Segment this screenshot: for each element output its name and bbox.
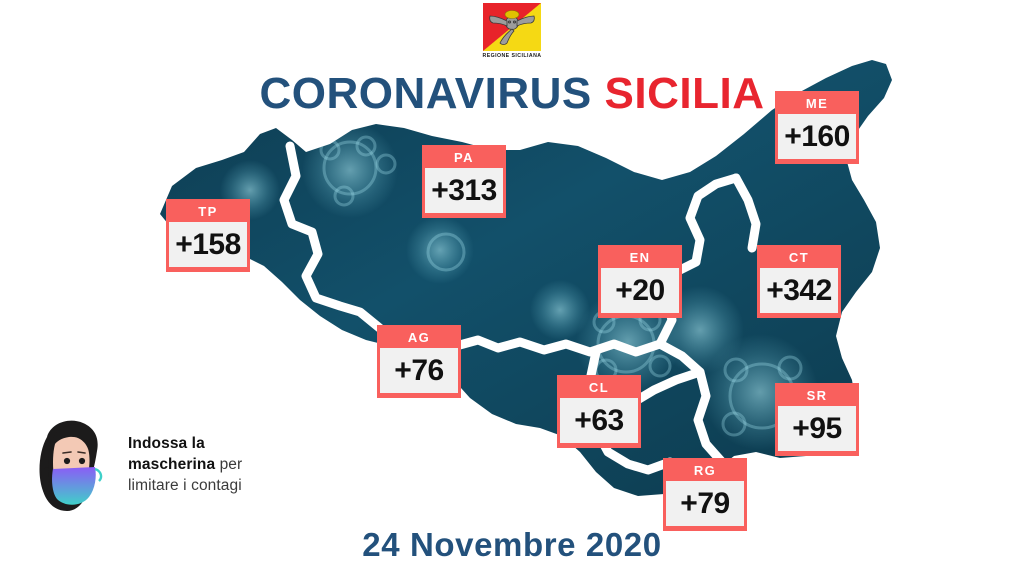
stat-value-sr: +95 xyxy=(778,406,856,451)
regione-siciliana-logo: REGIONE SICILIANA xyxy=(479,3,545,65)
stat-box-ct[interactable]: CT+342 xyxy=(757,245,841,318)
stat-value-rg: +79 xyxy=(666,481,744,526)
mask-notice-line2-bold: mascherina xyxy=(128,456,215,473)
page-title: CORONAVIRUS SICILIA xyxy=(0,72,1024,116)
stat-code-tp: TP xyxy=(169,202,247,222)
trinacria-shield-icon xyxy=(483,3,541,51)
stat-box-cl[interactable]: CL+63 xyxy=(557,375,641,448)
stat-value-en: +20 xyxy=(601,268,679,313)
stat-value-pa: +313 xyxy=(425,168,503,213)
stat-box-ag[interactable]: AG+76 xyxy=(377,325,461,398)
mask-notice-line1: Indossa la xyxy=(128,435,205,452)
stat-code-en: EN xyxy=(601,248,679,268)
infographic-page: REGIONE SICILIANA CORONAVIRUS SICILIA TP… xyxy=(0,0,1024,576)
stat-box-en[interactable]: EN+20 xyxy=(598,245,682,318)
stat-value-me: +160 xyxy=(778,114,856,159)
stat-value-tp: +158 xyxy=(169,222,247,267)
woman-wearing-mask-icon xyxy=(25,415,117,515)
title-sicilia: SICILIA xyxy=(605,69,765,118)
stat-code-ag: AG xyxy=(380,328,458,348)
stat-box-pa[interactable]: PA+313 xyxy=(422,145,506,218)
stat-box-me[interactable]: ME+160 xyxy=(775,91,859,164)
stat-value-ct: +342 xyxy=(760,268,838,313)
date-label: 24 Novembre 2020 xyxy=(0,526,1024,564)
stat-box-rg[interactable]: RG+79 xyxy=(663,458,747,531)
stat-code-me: ME xyxy=(778,94,856,114)
mask-notice-text: Indossa la mascherina per limitare i con… xyxy=(128,433,242,496)
stat-code-sr: SR xyxy=(778,386,856,406)
mask-notice-line2-rest: per xyxy=(215,456,242,473)
stat-code-ct: CT xyxy=(760,248,838,268)
logo-caption: REGIONE SICILIANA xyxy=(479,53,545,59)
mask-notice-line3: limitare i contagi xyxy=(128,477,242,494)
stat-box-sr[interactable]: SR+95 xyxy=(775,383,859,456)
triskelion-icon xyxy=(483,3,541,51)
stat-code-pa: PA xyxy=(425,148,503,168)
stat-code-cl: CL xyxy=(560,378,638,398)
stat-value-ag: +76 xyxy=(380,348,458,393)
stat-box-tp[interactable]: TP+158 xyxy=(166,199,250,272)
mask-notice: Indossa la mascherina per limitare i con… xyxy=(25,415,290,515)
stat-value-cl: +63 xyxy=(560,398,638,443)
title-coronavirus: CORONAVIRUS xyxy=(260,69,592,118)
stat-code-rg: RG xyxy=(666,461,744,481)
